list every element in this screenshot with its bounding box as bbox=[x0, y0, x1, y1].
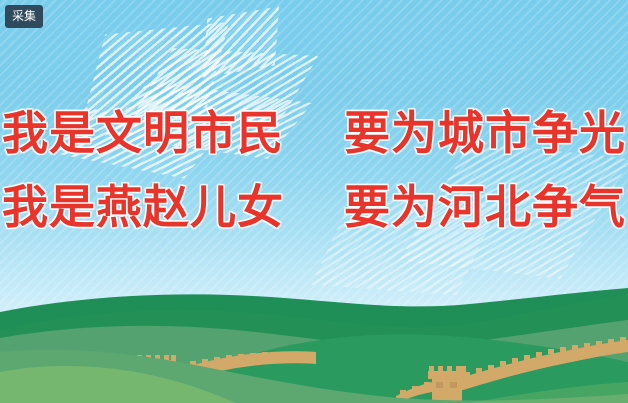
slogan-line-2: 我是燕赵儿女 要为河北争气 bbox=[0, 170, 628, 244]
slogan-line-1-left: 我是文明市民 bbox=[2, 96, 284, 170]
slogan-line-2-left: 我是燕赵儿女 bbox=[2, 170, 284, 244]
wall-tower-right bbox=[428, 366, 466, 403]
slogan-line-2-right: 要为河北争气 bbox=[344, 170, 626, 244]
slogan-block: 我是文明市民 要为城市争光 我是燕赵儿女 要为河北争气 bbox=[0, 96, 628, 244]
slogan-line-1-right: 要为城市争光 bbox=[344, 96, 626, 170]
poster-canvas: 我是文明市民 要为城市争光 我是燕赵儿女 要为河北争气 采集 bbox=[0, 0, 628, 403]
capture-button[interactable]: 采集 bbox=[5, 5, 43, 28]
slogan-line-1: 我是文明市民 要为城市争光 bbox=[0, 96, 628, 170]
